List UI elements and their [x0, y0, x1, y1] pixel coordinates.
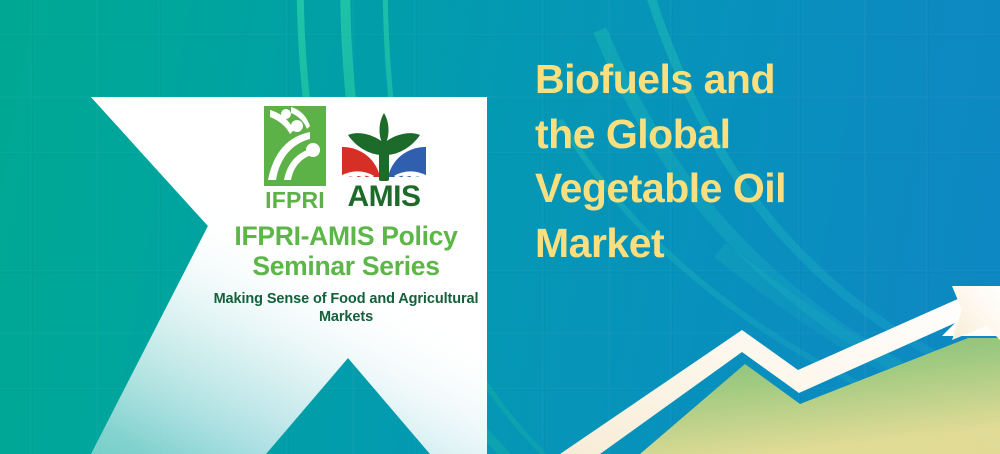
- logo-row: IFPRI: [196, 104, 496, 212]
- amis-logo-icon: [340, 107, 428, 181]
- series-subtitle: Making Sense of Food and Agricultural Ma…: [196, 290, 496, 326]
- ifpri-wordmark: IFPRI: [265, 189, 325, 212]
- headline-line-3: Vegetable Oil: [535, 161, 955, 216]
- card-content: IFPRI: [196, 104, 496, 327]
- headline-line-1: Biofuels and: [535, 52, 955, 107]
- series-subtitle-line-1: Making Sense of Food and: [214, 291, 395, 307]
- banner-canvas: IFPRI: [0, 0, 1000, 454]
- series-title-line-2: Seminar Series: [252, 251, 439, 281]
- amis-logo: AMIS: [340, 107, 428, 212]
- headline-line-4: Market: [535, 216, 955, 271]
- series-title: IFPRI-AMIS Policy Seminar Series: [196, 222, 496, 281]
- ifpri-logo-icon: [264, 106, 326, 186]
- seminar-series-card: IFPRI: [0, 0, 500, 454]
- series-title-line-1: IFPRI-AMIS Policy: [234, 221, 457, 251]
- amis-wordmark: AMIS: [348, 182, 421, 212]
- ifpri-logo: IFPRI: [264, 106, 326, 212]
- headline: Biofuels and the Global Vegetable Oil Ma…: [535, 52, 955, 270]
- headline-line-2: the Global: [535, 107, 955, 162]
